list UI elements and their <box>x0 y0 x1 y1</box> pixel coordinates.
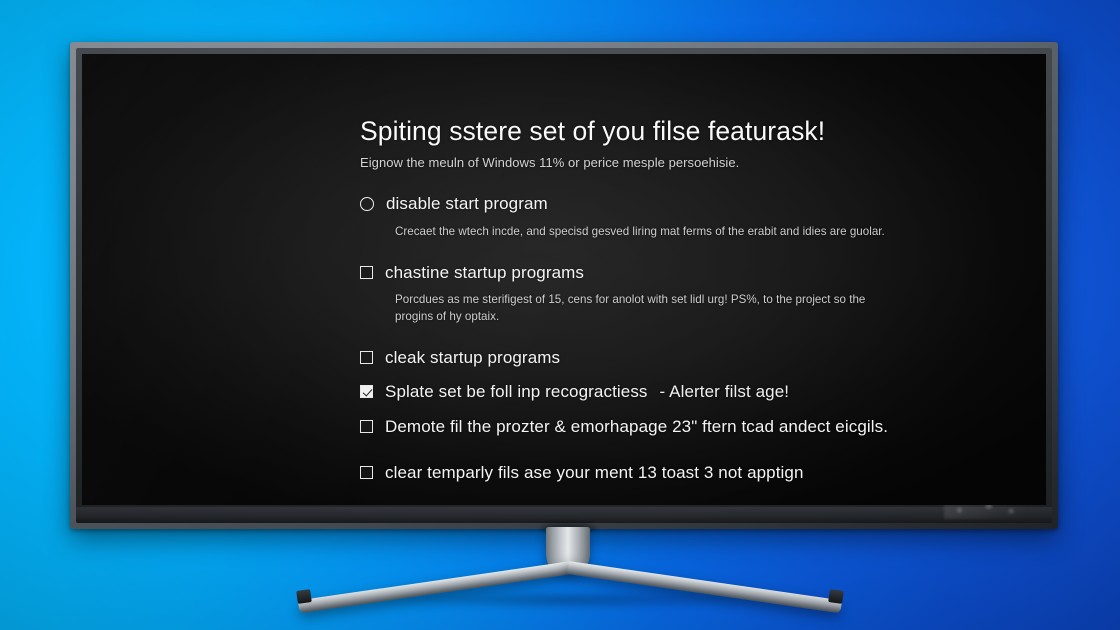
options-list: disable start program Crecaet the wtech … <box>360 194 960 483</box>
stand-foot-cap-left <box>296 589 312 604</box>
stand-foot-left <box>298 561 573 613</box>
option-item-splate-set-recogractiess[interactable]: Splate set be foll inp recogractiess - A… <box>360 382 960 402</box>
option-label: Demote fil the prozter & emorhapage 23" … <box>385 417 888 437</box>
stand-foot-cap-right <box>828 589 844 604</box>
page-title: Spiting sstere set of you filse featuras… <box>360 116 960 146</box>
option-label: cleak startup programs <box>385 348 560 368</box>
checkbox-unchecked-icon[interactable] <box>360 466 373 479</box>
monitor-screen-panel: Spiting sstere set of you filse featuras… <box>82 54 1046 505</box>
option-item-disable-start-program[interactable]: disable start program Crecaet the wtech … <box>360 194 960 240</box>
option-description: Porcdues as me sterifigest of 15, cens f… <box>395 292 893 326</box>
checkbox-unchecked-icon[interactable] <box>360 351 373 364</box>
radio-unchecked-icon[interactable] <box>360 197 374 211</box>
option-item-clear-temparly-fils[interactable]: clear temparly fils ase your ment 13 toa… <box>360 463 960 483</box>
settings-screen-content: Spiting sstere set of you filse featuras… <box>360 116 960 484</box>
option-description: Crecaet the wtech incde, and specisd ges… <box>395 224 893 241</box>
page-subtitle: Eignow the meuln of Windows 11% or peric… <box>360 155 960 170</box>
stand-base-shadow <box>286 592 846 612</box>
monitor-device: Spiting sstere set of you filse featuras… <box>70 42 1058 529</box>
wallpaper-backdrop: Spiting sstere set of you filse featuras… <box>0 0 1120 630</box>
option-item-demote-fil-prozter[interactable]: Demote fil the prozter & emorhapage 23" … <box>360 417 960 437</box>
option-label: clear temparly fils ase your ment 13 toa… <box>385 463 804 483</box>
option-label: Splate set be foll inp recogractiess <box>385 382 648 402</box>
option-item-cleak-startup-programs[interactable]: cleak startup programs <box>360 348 960 368</box>
stand-foot-right <box>567 561 842 613</box>
option-label: chastine startup programs <box>385 263 584 283</box>
option-item-chastine-startup-programs[interactable]: chastine startup programs Porcdues as me… <box>360 263 960 326</box>
checkbox-unchecked-icon[interactable] <box>360 420 373 433</box>
monitor-bottom-bezel <box>76 507 1052 523</box>
option-label-suffix: - Alerter filst age! <box>660 382 790 402</box>
stand-neck <box>546 527 590 569</box>
checkbox-unchecked-icon[interactable] <box>360 266 373 279</box>
option-label: disable start program <box>386 194 548 214</box>
checkbox-checked-icon[interactable] <box>360 385 373 398</box>
